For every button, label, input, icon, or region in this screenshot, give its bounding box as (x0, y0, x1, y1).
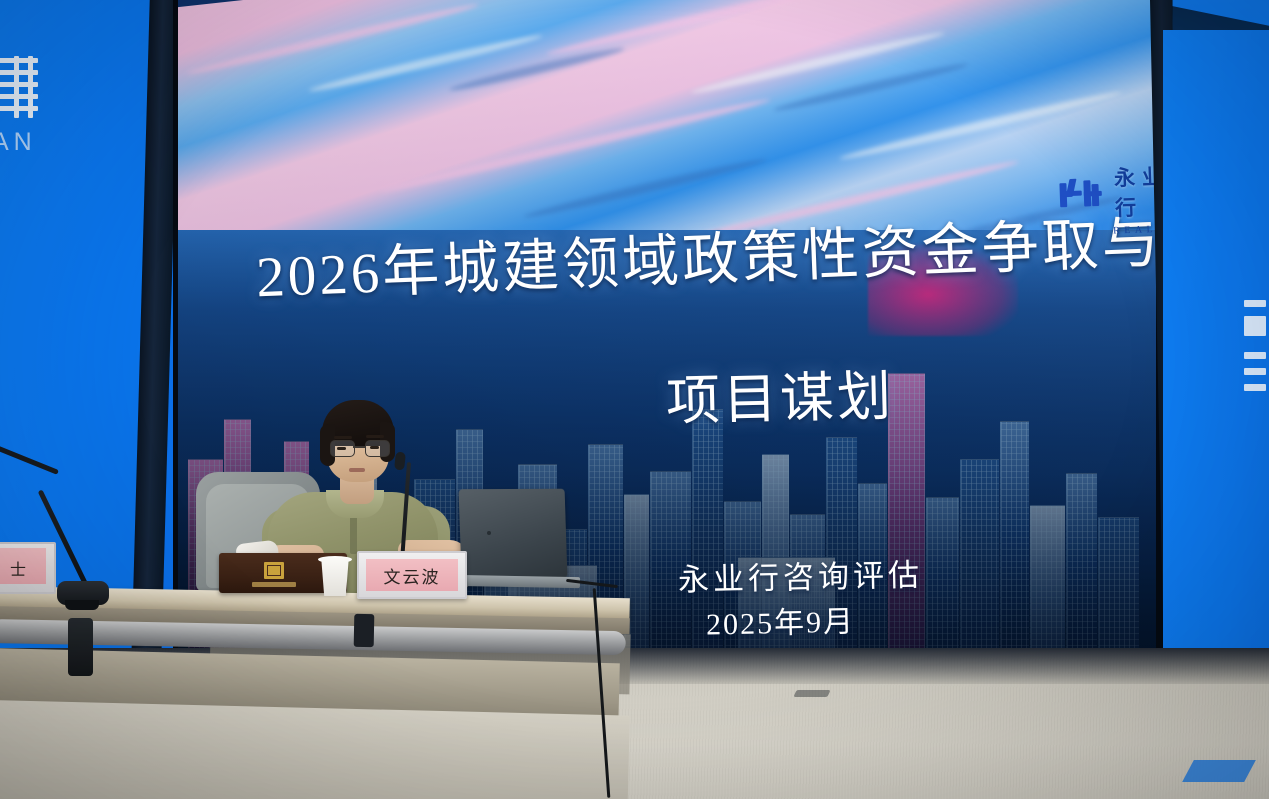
screenshot-scene: AN (0, 0, 1269, 799)
laptop-icon (459, 489, 568, 585)
slide-title-line2: 项目谋划 (665, 369, 894, 428)
desk-base (0, 700, 630, 799)
tissue-box-logo (264, 562, 284, 579)
partial-character-icon (1244, 300, 1269, 405)
second-seat-name-text: 士 (10, 556, 26, 580)
laptop-base (452, 575, 580, 588)
presenter-eye-right (370, 446, 379, 449)
slide-footer-date: 2025年9月 (706, 596, 856, 643)
name-placard-card: 文云波 (366, 559, 458, 591)
presenter-mouth (349, 468, 365, 472)
left-panel-latin-text: AN (0, 128, 37, 157)
laptop-logo-dot (487, 531, 491, 535)
presenter-brow-right (366, 435, 384, 438)
presenter-name-placard: 文云波 (357, 551, 467, 599)
desk-rail-clip (354, 614, 375, 647)
tissue-box-subtext (252, 582, 296, 587)
slide-footer-organization: 永业行咨询评估 (678, 549, 924, 599)
building-glyph-icon (0, 56, 42, 126)
slide-brand-logo: 永业行 REALHOM (1059, 160, 1156, 239)
brand-english-name: REALHOM (1113, 223, 1156, 237)
brand-chinese-name: 永业行 (1114, 160, 1156, 223)
paper-cup-icon (320, 558, 350, 596)
second-microphone-base-lower (65, 600, 99, 610)
second-microphone-pedestal (68, 618, 93, 676)
presenter-name-text: 文云波 (384, 563, 441, 588)
presenter-eye-left (337, 447, 346, 450)
floor-blue-tile (1182, 760, 1256, 782)
yh-monogram-icon (1059, 178, 1103, 209)
presenter-brow-left (334, 436, 352, 439)
floor-mark (793, 690, 830, 697)
